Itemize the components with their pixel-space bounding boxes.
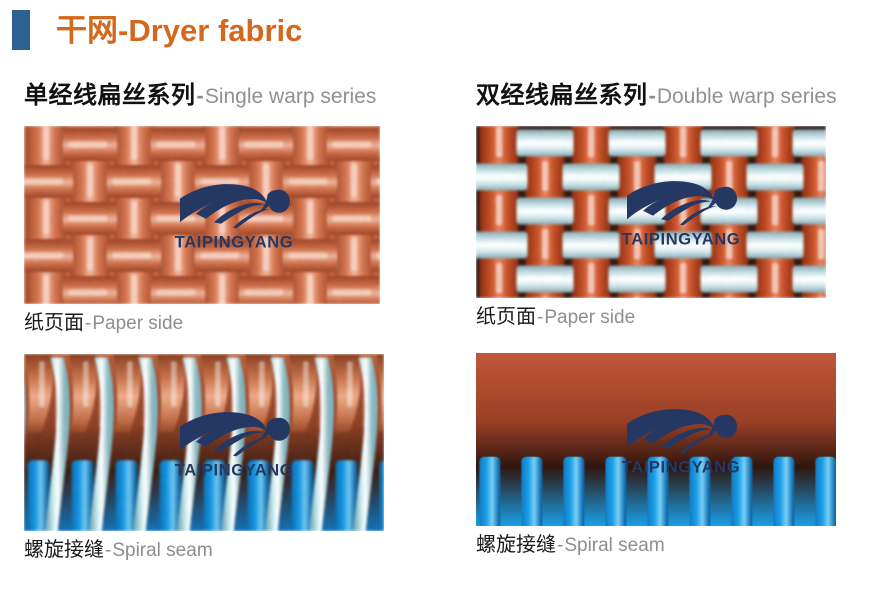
caption-english: Paper side bbox=[544, 308, 635, 327]
title-accent-bar bbox=[12, 10, 30, 50]
page-title: 干网-Dryer fabric bbox=[0, 6, 302, 54]
fabric-image-double-warp-spiral-seam bbox=[476, 353, 836, 526]
column-double-warp: 双经线扁丝系列-Double warp series TAIPINGYANG 纸… bbox=[476, 84, 886, 555]
caption-chinese: 螺旋接缝 bbox=[24, 540, 104, 560]
caption-chinese: 纸页面 bbox=[476, 307, 536, 327]
title-chinese: 干网 bbox=[56, 13, 118, 48]
heading-chinese: 双经线扁丝系列 bbox=[476, 84, 648, 108]
heading-english: Single warp series bbox=[205, 86, 377, 107]
heading-separator: - bbox=[196, 85, 205, 107]
caption-single-warp-spiral-seam: 螺旋接缝-Spiral seam bbox=[24, 537, 444, 560]
caption-english: Paper side bbox=[92, 314, 183, 333]
caption-separator: - bbox=[104, 541, 112, 560]
figure-double-warp-paper-side: TAIPINGYANG bbox=[476, 126, 886, 298]
figure-double-warp-spiral-seam: TAIPINGYANG bbox=[476, 353, 886, 526]
caption-single-warp-paper-side: 纸页面-Paper side bbox=[24, 310, 444, 333]
figure-single-warp-spiral-seam: TAIPINGYANG bbox=[24, 354, 444, 531]
caption-chinese: 纸页面 bbox=[24, 313, 84, 333]
heading-chinese: 单经线扁丝系列 bbox=[24, 84, 196, 108]
caption-separator: - bbox=[84, 314, 92, 333]
column-single-warp: 单经线扁丝系列-Single warp series TAIPINGYANG 纸… bbox=[24, 84, 444, 560]
caption-english: Spiral seam bbox=[112, 541, 212, 560]
caption-chinese: 螺旋接缝 bbox=[476, 535, 556, 555]
heading-english: Double warp series bbox=[657, 86, 837, 107]
fabric-image-double-warp-paper-side bbox=[476, 126, 826, 298]
figure-single-warp-paper-side: TAIPINGYANG bbox=[24, 126, 444, 304]
caption-english: Spiral seam bbox=[564, 536, 664, 555]
title-separator: - bbox=[118, 13, 128, 48]
section-heading-double-warp: 双经线扁丝系列-Double warp series bbox=[476, 84, 886, 112]
title-text: 干网-Dryer fabric bbox=[56, 15, 302, 46]
fabric-image-single-warp-spiral-seam bbox=[24, 354, 384, 531]
title-english: Dryer fabric bbox=[128, 13, 302, 48]
caption-separator: - bbox=[556, 536, 564, 555]
section-heading-single-warp: 单经线扁丝系列-Single warp series bbox=[24, 84, 444, 112]
heading-separator: - bbox=[648, 85, 657, 107]
caption-double-warp-paper-side: 纸页面-Paper side bbox=[476, 304, 886, 327]
fabric-image-single-warp-paper-side bbox=[24, 126, 380, 304]
caption-separator: - bbox=[536, 308, 544, 327]
caption-double-warp-spiral-seam: 螺旋接缝-Spiral seam bbox=[476, 532, 886, 555]
